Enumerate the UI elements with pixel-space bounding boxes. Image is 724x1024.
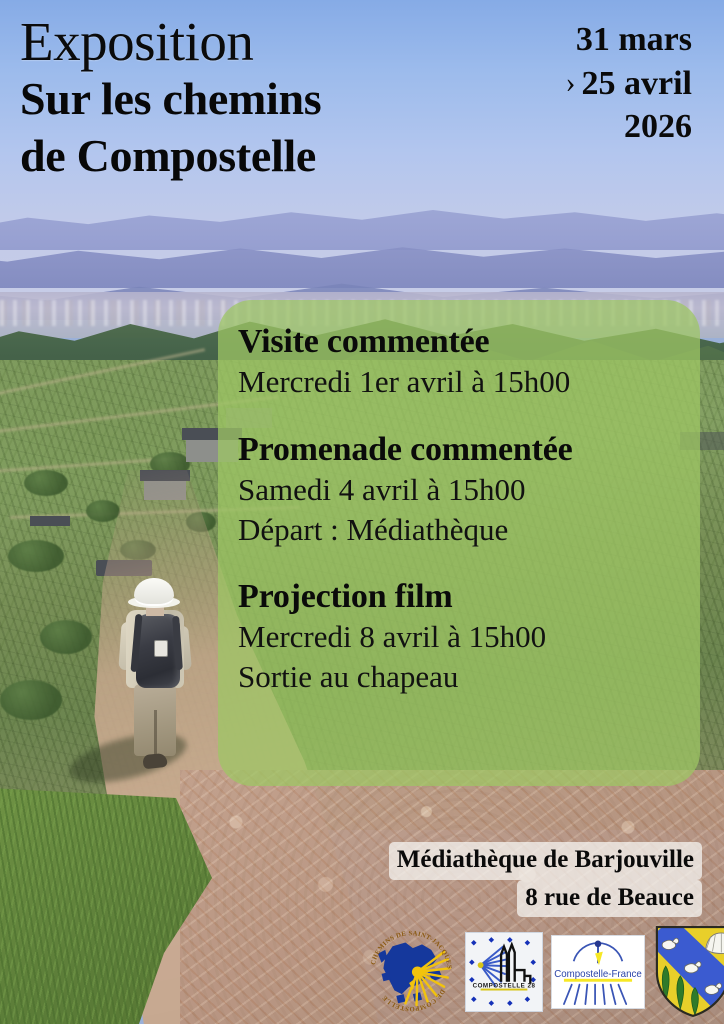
bush xyxy=(0,680,62,720)
chevron-right-icon: › xyxy=(566,64,576,102)
event-detail: Départ : Médiathèque xyxy=(238,510,674,550)
bush xyxy=(86,500,120,522)
hiker-boot xyxy=(142,753,167,769)
compostelle-france-caption: Compostelle-France xyxy=(554,969,642,980)
event-detail: Sortie au chapeau xyxy=(238,657,674,697)
venue-street-row: 8 rue de Beauce xyxy=(389,880,702,918)
barjouville-coat-of-arms xyxy=(653,923,724,1021)
date-end: 25 avril xyxy=(582,65,692,102)
bush xyxy=(40,620,92,654)
event-item: Projection film Mercredi 8 avril à 15h00… xyxy=(238,577,674,696)
hiker-leg-separation xyxy=(154,710,157,758)
event-title: Promenade commentée xyxy=(238,430,674,470)
event-item: Visite commentée Mercredi 1er avril à 15… xyxy=(238,322,674,402)
poster-title-block: Exposition Sur les chemins de Compostell… xyxy=(20,12,321,184)
venue-name-row: Médiathèque de Barjouville xyxy=(389,842,702,880)
compostelle-28-logo: COMPOSTELLE 28 xyxy=(465,932,543,1012)
venue-name: Médiathèque de Barjouville xyxy=(389,842,702,880)
exhibition-dates: 31 mars ›25 avril 2026 xyxy=(566,18,692,149)
title-line-3: de Compostelle xyxy=(20,128,321,184)
event-title: Visite commentée xyxy=(238,322,674,362)
poster: Exposition Sur les chemins de Compostell… xyxy=(0,0,724,1024)
bush xyxy=(24,470,68,496)
event-title: Projection film xyxy=(238,577,674,617)
event-detail: Mercredi 1er avril à 15h00 xyxy=(238,362,674,402)
event-detail: Samedi 4 avril à 15h00 xyxy=(238,470,674,510)
event-item: Promenade commentée Samedi 4 avril à 15h… xyxy=(238,430,674,549)
building-roof xyxy=(30,516,70,526)
compostelle-france-logo: Compostelle-France xyxy=(551,935,645,1009)
venue-address: Médiathèque de Barjouville 8 rue de Beau… xyxy=(389,842,702,917)
backpack-label xyxy=(154,640,168,657)
page-title: Exposition xyxy=(20,12,321,71)
venue-street: 8 rue de Beauce xyxy=(517,880,702,918)
events-panel: Visite commentée Mercredi 1er avril à 15… xyxy=(218,300,700,786)
svg-text:DE COMPOSTELLE: DE COMPOSTELLE xyxy=(381,988,446,1012)
date-start: 31 mars xyxy=(566,18,692,62)
hiker-figure xyxy=(112,578,198,810)
compostelle-28-caption: COMPOSTELLE 28 xyxy=(473,983,536,990)
event-detail: Mercredi 8 avril à 15h00 xyxy=(238,617,674,657)
date-year: 2026 xyxy=(566,105,692,149)
title-line-2: Sur les chemins xyxy=(20,71,321,127)
council-of-europe-cultural-route-logo: CHEMINS DE SAINT-JACQUES DE COMPOSTELLE xyxy=(365,923,457,1021)
partner-logos: CHEMINS DE SAINT-JACQUES DE COMPOSTELLE xyxy=(365,922,721,1022)
hiker-hat xyxy=(134,578,174,604)
bush xyxy=(8,540,64,572)
date-end-row: ›25 avril xyxy=(566,62,692,106)
